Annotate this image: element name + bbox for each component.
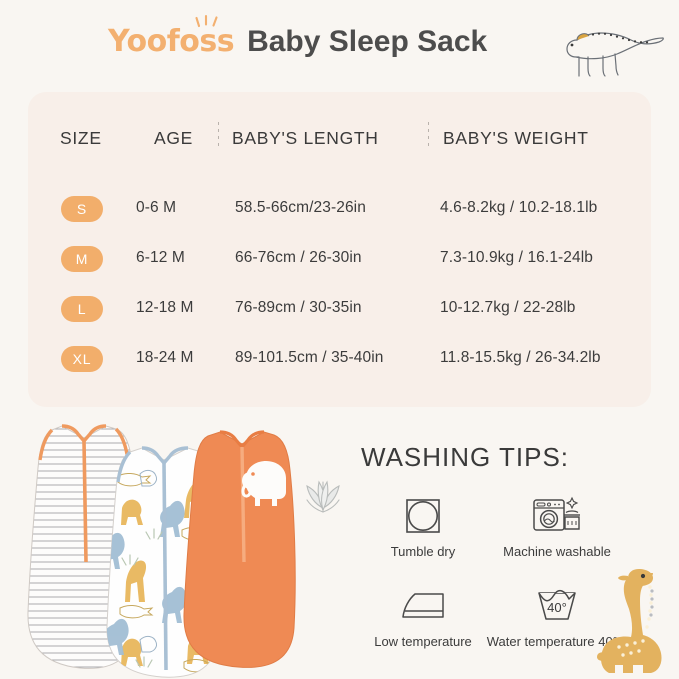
- brand-logo: Yoofoss: [108, 27, 234, 57]
- cell-weight: 10-12.7kg / 22-28lb: [440, 299, 575, 317]
- cell-age: 12-18 M: [136, 299, 194, 317]
- tip-low-temperature: Low temperature: [348, 582, 498, 649]
- table-row: S 0-6 M 58.5-66cm/23-26in 4.6-8.2kg / 10…: [28, 188, 651, 238]
- cell-weight: 4.6-8.2kg / 10.2-18.1lb: [440, 199, 597, 217]
- column-header-length: BABY'S LENGTH: [232, 128, 379, 149]
- tip-label: Tumble dry: [348, 544, 498, 559]
- cell-weight: 7.3-10.9kg / 16.1-24lb: [440, 249, 593, 267]
- cell-length: 66-76cm / 26-30in: [235, 249, 362, 267]
- brand-row: Yoofoss Baby Sleep Sack: [108, 27, 487, 57]
- tip-label: Machine washable: [482, 544, 632, 559]
- orange-elephant-sleep-sack: [184, 432, 295, 667]
- cell-age: 6-12 M: [136, 249, 185, 267]
- cell-length: 58.5-66cm/23-26in: [235, 199, 366, 217]
- size-badge: XL: [61, 346, 103, 372]
- column-header-size: SIZE: [60, 128, 102, 149]
- tip-machine-washable: Machine washable: [482, 492, 632, 559]
- cell-length: 76-89cm / 30-35in: [235, 299, 362, 317]
- size-badge: S: [61, 196, 103, 222]
- table-row: L 12-18 M 76-89cm / 30-35in 10-12.7kg / …: [28, 288, 651, 338]
- water-temp-value: 40°: [547, 600, 567, 615]
- table-header-row: SIZE AGE BABY'S LENGTH BABY'S WEIGHT: [28, 128, 651, 162]
- size-badge: L: [61, 296, 103, 322]
- size-chart-table: SIZE AGE BABY'S LENGTH BABY'S WEIGHT S 0…: [28, 92, 651, 407]
- washing-tips-title: WASHING TIPS:: [361, 442, 569, 473]
- product-infographic: Yoofoss Baby Sleep Sack: [0, 0, 679, 679]
- brontosaurus-icon: [595, 565, 675, 679]
- column-divider: [428, 122, 429, 150]
- cell-length: 89-101.5cm / 35-40in: [235, 349, 383, 367]
- column-divider: [218, 122, 219, 150]
- page-title: Baby Sleep Sack: [247, 27, 487, 57]
- cell-age: 0-6 M: [136, 199, 176, 217]
- tumble-dry-icon: [348, 492, 498, 540]
- low-temperature-iron-icon: [348, 582, 498, 630]
- tip-label: Low temperature: [348, 634, 498, 649]
- column-header-weight: BABY'S WEIGHT: [443, 128, 589, 149]
- table-row: M 6-12 M 66-76cm / 26-30in 7.3-10.9kg / …: [28, 238, 651, 288]
- dinosaur-outline-icon: [559, 18, 667, 80]
- size-badge: M: [61, 246, 103, 272]
- sun-rays-icon: [194, 14, 224, 28]
- tip-tumble-dry: Tumble dry: [348, 492, 498, 559]
- table-row: XL 18-24 M 89-101.5cm / 35-40in 11.8-15.…: [28, 338, 651, 388]
- product-photo-group: [22, 412, 312, 679]
- cell-age: 18-24 M: [136, 349, 194, 367]
- size-chart-panel: SIZE AGE BABY'S LENGTH BABY'S WEIGHT S 0…: [28, 92, 651, 407]
- machine-washable-icon: [482, 492, 632, 540]
- header: Yoofoss Baby Sleep Sack: [0, 0, 679, 88]
- cell-weight: 11.8-15.5kg / 26-34.2lb: [440, 349, 601, 367]
- column-header-age: AGE: [154, 128, 193, 149]
- brand-logo-text: Yoofoss: [108, 24, 234, 59]
